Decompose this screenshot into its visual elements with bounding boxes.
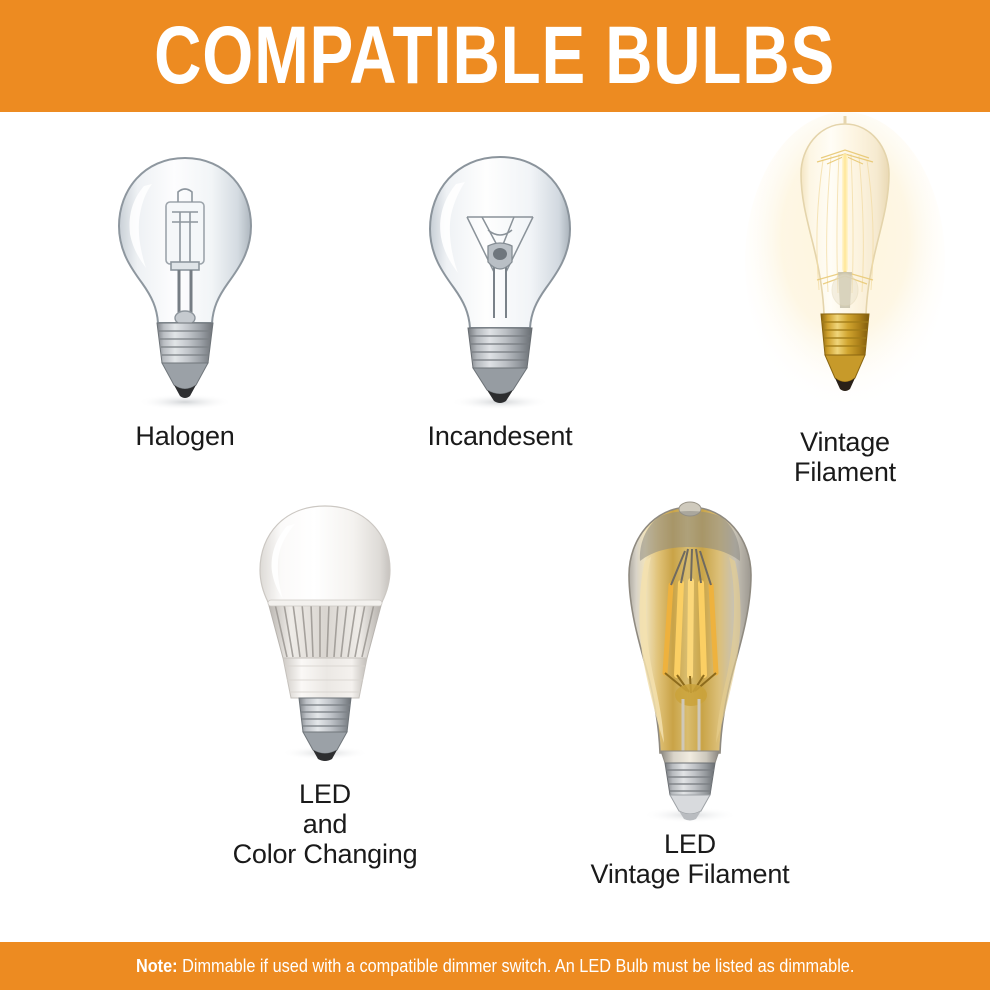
bulb-label-incandescent: Incandesent — [355, 421, 645, 451]
header-banner: COMPATIBLE BULBS — [0, 0, 990, 112]
led-bulb-icon — [245, 500, 405, 765]
bulb-card-led-vintage-filament: LED Vintage Filament — [520, 495, 860, 889]
note-lead: Note: — [136, 955, 178, 976]
halogen-bulb-icon — [100, 150, 270, 415]
bulb-card-incandescent: Incandesent — [355, 150, 645, 451]
note-body: Dimmable if used with a compatible dimme… — [177, 955, 854, 976]
bulb-card-led: LED and Color Changing — [175, 500, 475, 870]
led-vintage-filament-bulb-icon — [595, 495, 785, 825]
bulb-card-halogen: Halogen — [40, 150, 330, 451]
bulb-label-halogen: Halogen — [40, 421, 330, 451]
infographic-page: COMPATIBLE BULBS — [0, 0, 990, 990]
note-text: Note: Dimmable if used with a compatible… — [136, 955, 854, 977]
bulb-card-vintage-filament: Vintage Filament — [700, 112, 990, 487]
vintage-filament-bulb-icon — [745, 112, 945, 417]
page-title: COMPATIBLE BULBS — [155, 15, 836, 97]
bulb-label-led-vintage-filament: LED Vintage Filament — [520, 829, 860, 889]
incandescent-bulb-icon — [410, 150, 590, 415]
bulb-label-led: LED and Color Changing — [175, 779, 475, 870]
bulb-label-vintage-filament: Vintage Filament — [700, 427, 990, 487]
note-bar: Note: Dimmable if used with a compatible… — [0, 942, 990, 990]
